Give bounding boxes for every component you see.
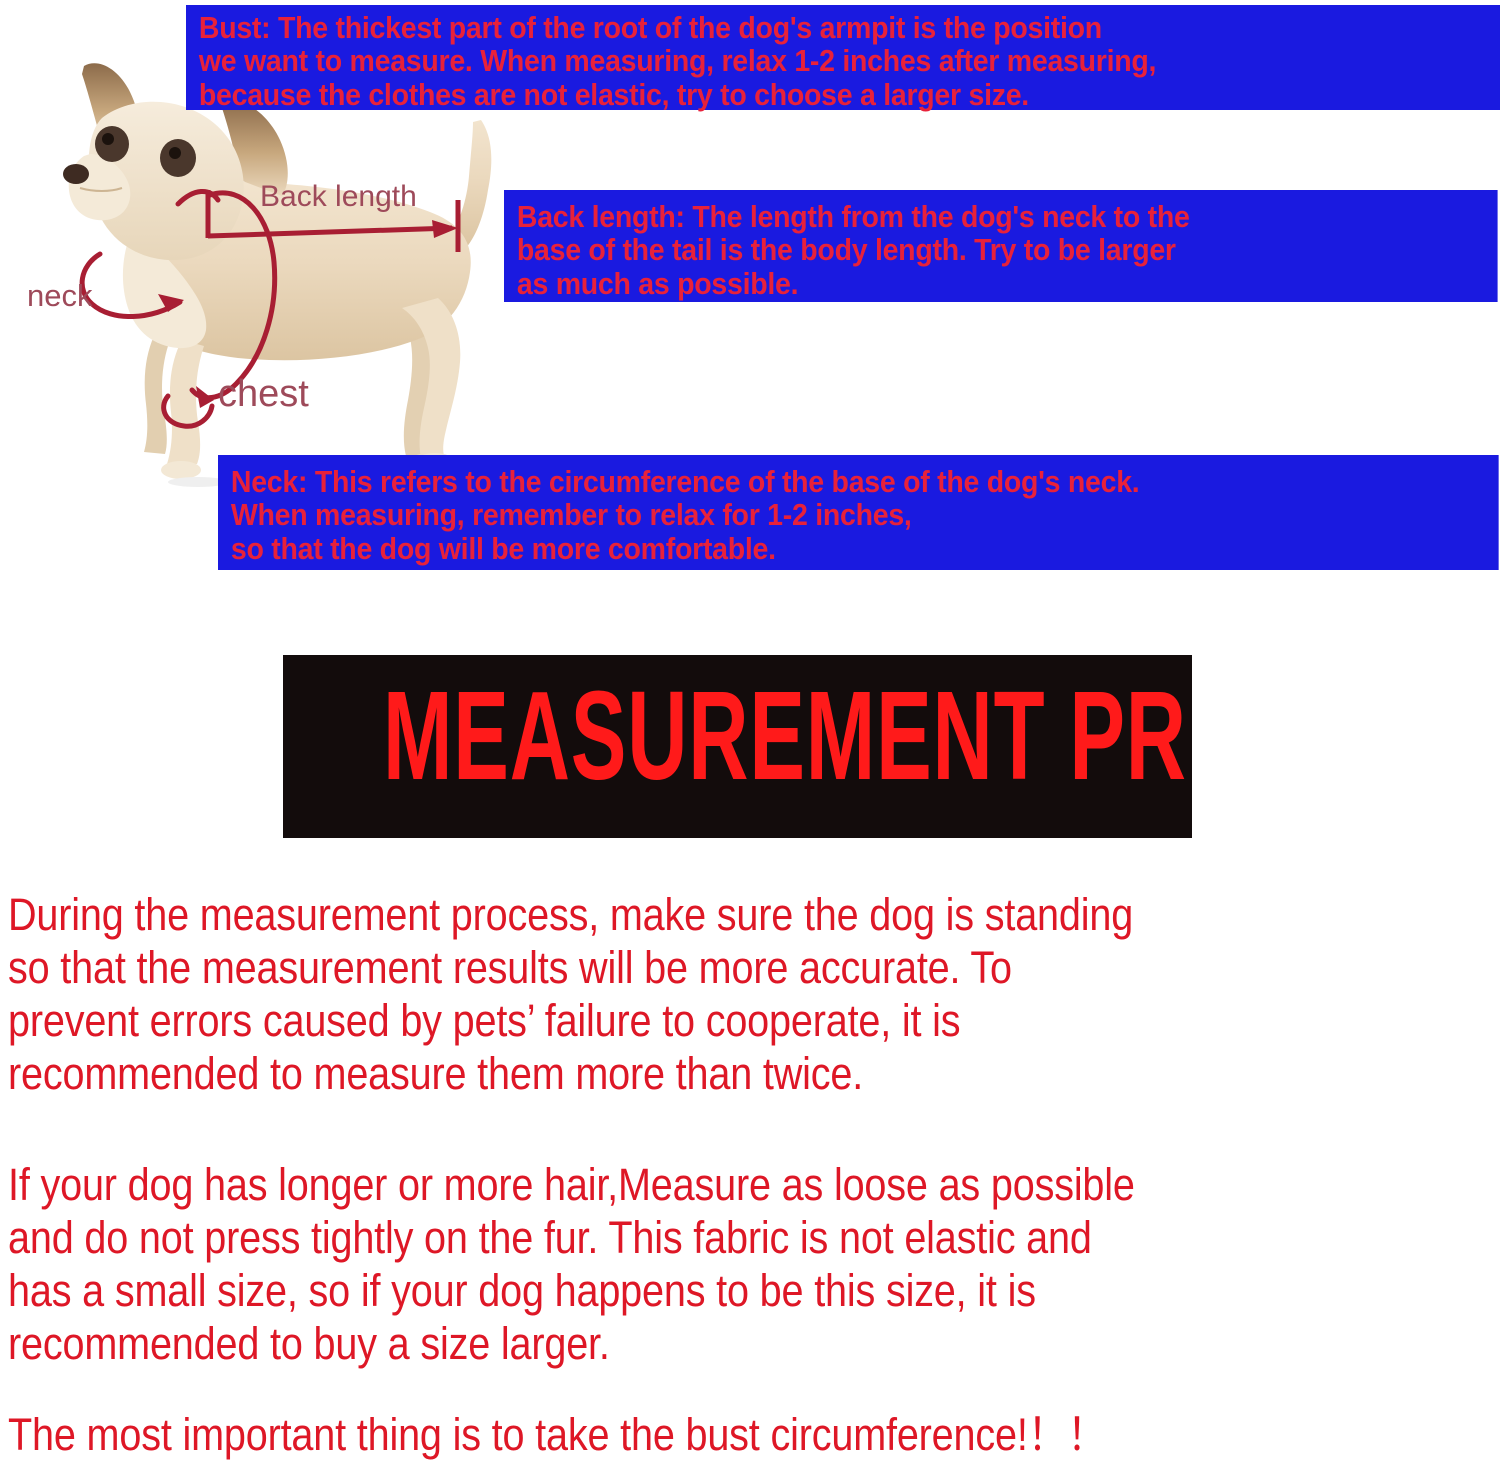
banner-title: MEASUREMENT PRECAUTIONS [383,673,1092,799]
back-length-label: Back length [260,180,417,214]
precaution-paragraph-2: If your dog has longer or more hair,Meas… [8,1158,1321,1370]
callout-back-length: Back length: The length from the dog's n… [504,190,1498,302]
dog-eye-left-pupil [102,133,114,145]
chest-label: chest [218,373,309,416]
callout-neck: Neck: This refers to the circumference o… [218,455,1499,570]
callout-bust: Bust: The thickest part of the root of t… [186,5,1500,110]
measurement-precautions-banner: MEASUREMENT PRECAUTIONS [283,655,1192,838]
dog-nose [63,164,89,184]
dog-eye-left [95,126,129,162]
neck-label: neck [27,278,92,314]
dog-eye-right-pupil [169,147,181,159]
precaution-paragraph-1: During the measurement process, make sur… [8,888,1321,1100]
precaution-paragraph-3: The most important thing is to take the … [8,1408,1321,1461]
dog-front-leg-near [167,340,204,464]
dog-front-paw [161,461,201,479]
